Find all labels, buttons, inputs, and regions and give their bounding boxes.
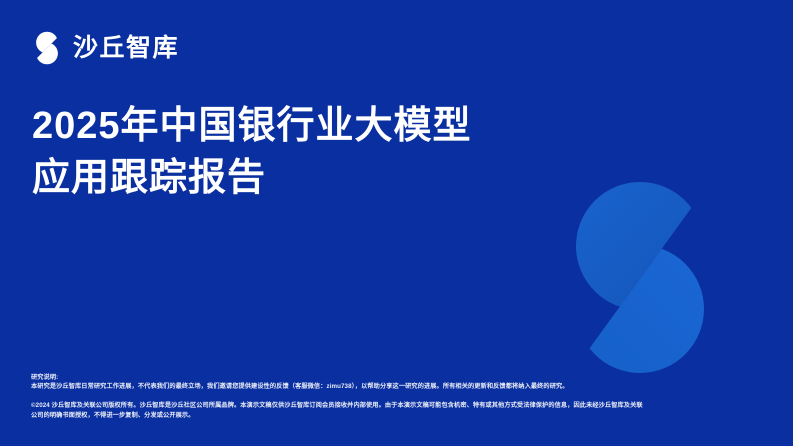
page-title: 2025年中国银行业大模型 应用跟踪报告 [32,100,652,204]
brand-logo[interactable]: 沙丘智库 [30,31,179,65]
footer: 研究说明: 本研究是沙丘智库日常研究工作进展，不代表我们的最终立场，我们邀请您提… [31,374,766,420]
research-note: 研究说明: 本研究是沙丘智库日常研究工作进展，不代表我们的最终立场，我们邀请您提… [31,374,766,391]
brand-name: 沙丘智库 [73,36,179,61]
research-note-body: 本研究是沙丘智库日常研究工作进展，不代表我们的最终立场，我们邀请您提供建设性的反… [31,383,766,392]
copyright-line-2: 公司的明确书面授权，不得进一步复制、分发或公开展示。 [31,411,766,420]
copyright-line-1: ©2024 沙丘智库及关联公司版权所有。沙丘智库是沙丘社区公司所属品牌。本演示文… [31,401,766,410]
page-title-line-1: 2025年中国银行业大模型 [32,100,652,152]
sand-dune-s-watermark-icon [568,178,713,378]
research-note-heading: 研究说明: [31,374,766,383]
sand-dune-s-mark-icon [30,31,64,65]
copyright-notice: ©2024 沙丘智库及关联公司版权所有。沙丘智库是沙丘社区公司所属品牌。本演示文… [31,401,766,420]
title-slide: 沙丘智库 2025年中国银行业大模型 应用跟踪报告 研究说明: 本研究是沙丘智库… [0,0,793,446]
page-title-line-2: 应用跟踪报告 [32,152,652,204]
